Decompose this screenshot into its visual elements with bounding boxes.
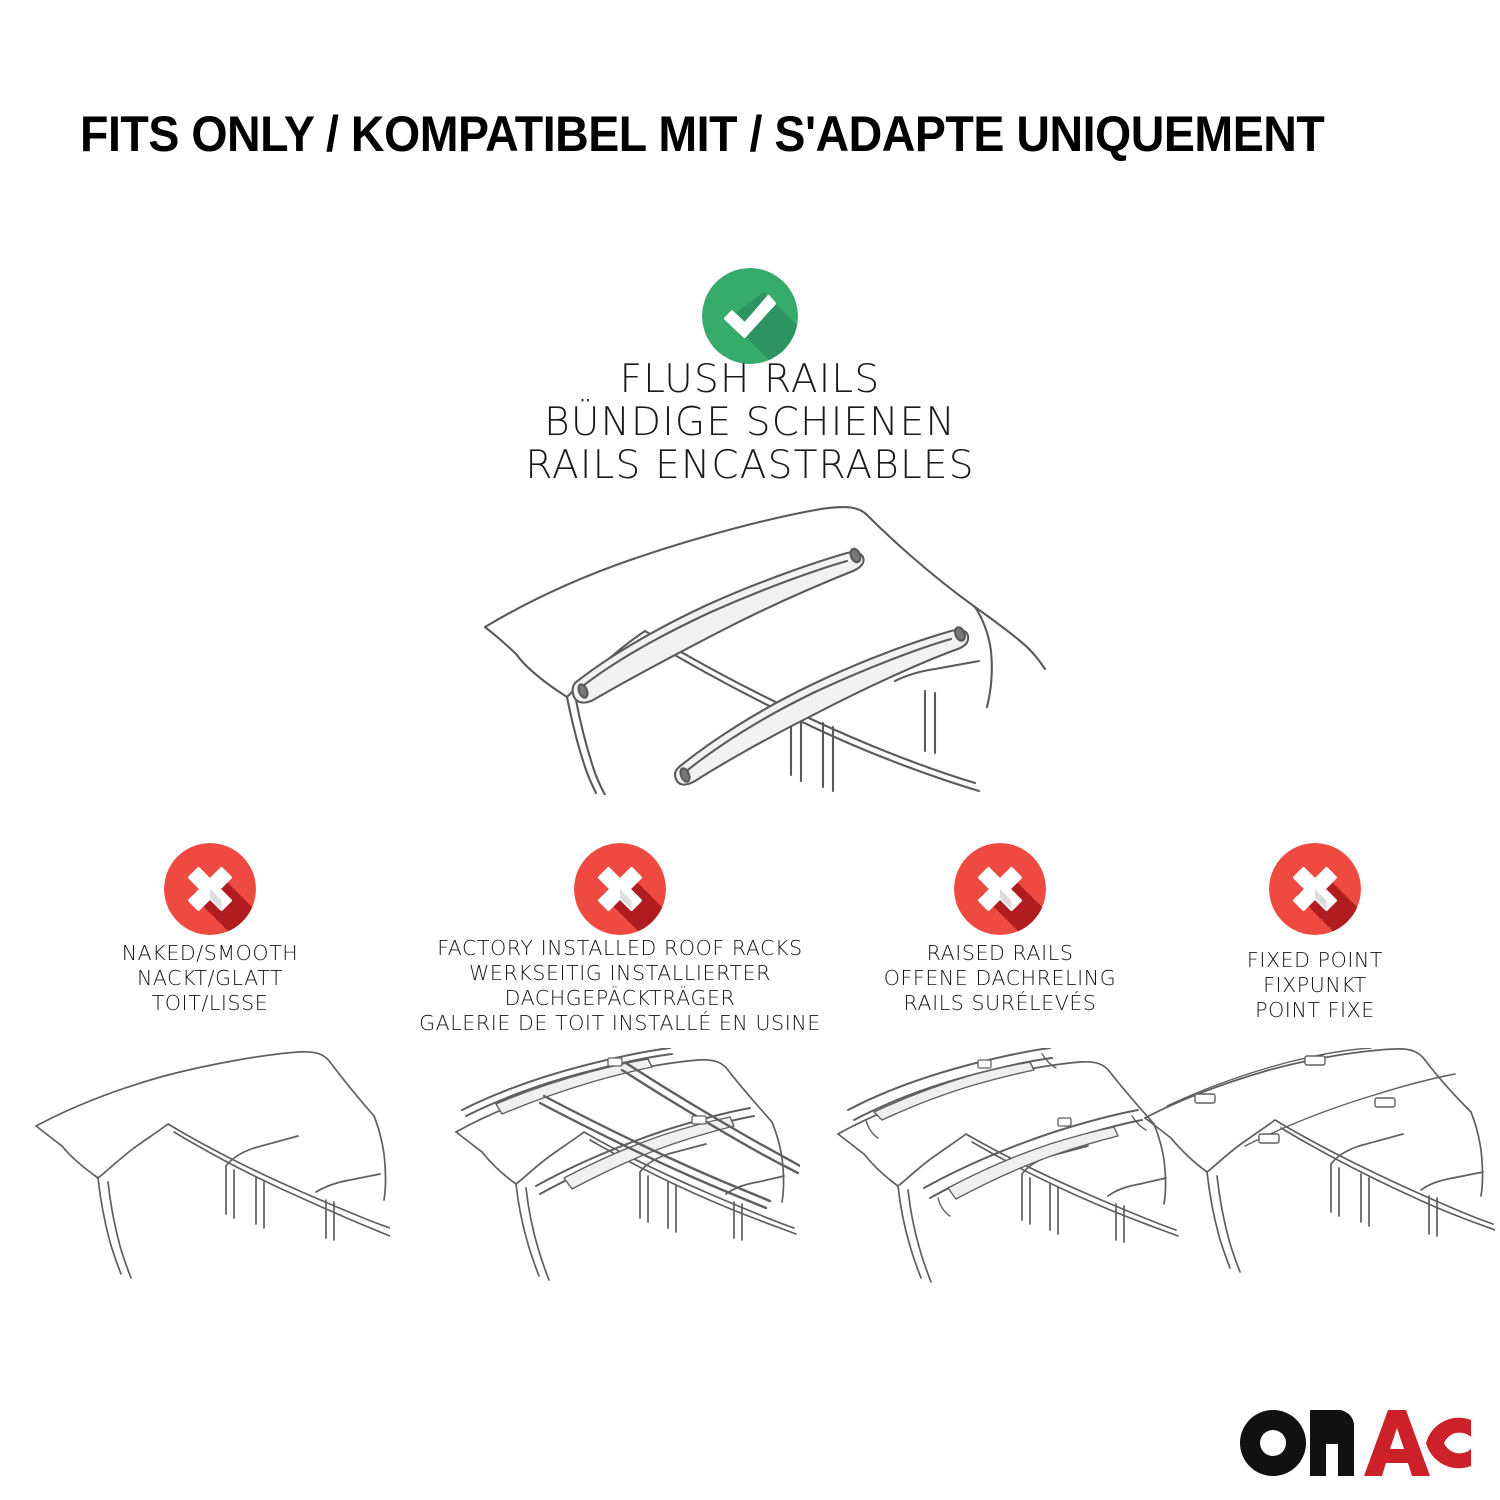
flush-rails-roof-illustration xyxy=(455,495,1055,795)
column-fixed-point: FIXED POINT FIXPUNKT POINT FIXE xyxy=(1165,843,1465,1343)
cross-circle-icon xyxy=(954,843,1046,935)
label-line-fr: RAILS SURÉLEVÉS xyxy=(845,991,1155,1016)
factory-roof-rack-illustration xyxy=(440,1048,800,1298)
label-line-en: NAKED/SMOOTH xyxy=(35,941,385,966)
column-label-naked-smooth: NAKED/SMOOTH NACKT/GLATT TOIT/LISSE xyxy=(35,941,385,1016)
column-label-fixed-point: FIXED POINT FIXPUNKT POINT FIXE xyxy=(1165,948,1465,1023)
omac-logo xyxy=(1238,1408,1473,1478)
cross-badge xyxy=(954,843,1046,935)
cross-badge xyxy=(1269,843,1361,935)
cross-badge xyxy=(164,843,256,935)
label-line-de: NACKT/GLATT xyxy=(35,966,385,991)
compatible-label-line-en: FLUSH RAILS xyxy=(0,358,1500,401)
page-title: FITS ONLY / KOMPATIBEL MIT / S'ADAPTE UN… xyxy=(80,108,1345,161)
cross-circle-icon xyxy=(1269,843,1361,935)
raised-rails-roof-illustration xyxy=(820,1048,1180,1298)
label-line-fr: POINT FIXE xyxy=(1165,998,1465,1023)
column-raised-rails: RAISED RAILS OFFENE DACHRELING RAILS SUR… xyxy=(845,843,1155,1343)
column-naked-smooth: NAKED/SMOOTH NACKT/GLATT TOIT/LISSE xyxy=(35,843,385,1343)
cross-badge xyxy=(574,843,666,935)
cross-circle-icon xyxy=(164,843,256,935)
column-factory-roof-racks: FACTORY INSTALLED ROOF RACKS WERKSEITIG … xyxy=(390,843,850,1343)
fixed-point-roof-illustration xyxy=(1135,1048,1495,1298)
compatible-label-line-fr: RAILS ENCASTRABLES xyxy=(0,444,1500,487)
check-circle-icon xyxy=(702,268,798,364)
label-line-de-1: WERKSEITIG INSTALLIERTER xyxy=(390,961,850,986)
label-line-en: RAISED RAILS xyxy=(845,941,1155,966)
label-line-fr: TOIT/LISSE xyxy=(35,991,385,1016)
compatible-label: FLUSH RAILS BÜNDIGE SCHIENEN RAILS ENCAS… xyxy=(0,358,1500,487)
label-line-en: FIXED POINT xyxy=(1165,948,1465,973)
incompatible-section: NAKED/SMOOTH NACKT/GLATT TOIT/LISSE xyxy=(0,843,1500,1343)
label-line-de: OFFENE DACHRELING xyxy=(845,966,1155,991)
column-label-factory-roof-racks: FACTORY INSTALLED ROOF RACKS WERKSEITIG … xyxy=(390,936,850,1036)
label-line-fr: GALERIE DE TOIT INSTALLÉ EN USINE xyxy=(390,1011,850,1036)
label-line-en: FACTORY INSTALLED ROOF RACKS xyxy=(390,936,850,961)
check-badge xyxy=(702,268,798,364)
cross-circle-icon xyxy=(574,843,666,935)
label-line-de-2: DACHGEPÄCKTRÄGER xyxy=(390,986,850,1011)
compatible-label-line-de: BÜNDIGE SCHIENEN xyxy=(0,401,1500,444)
column-label-raised-rails: RAISED RAILS OFFENE DACHRELING RAILS SUR… xyxy=(845,941,1155,1016)
naked-smooth-roof-illustration xyxy=(30,1048,390,1298)
label-line-de: FIXPUNKT xyxy=(1165,973,1465,998)
